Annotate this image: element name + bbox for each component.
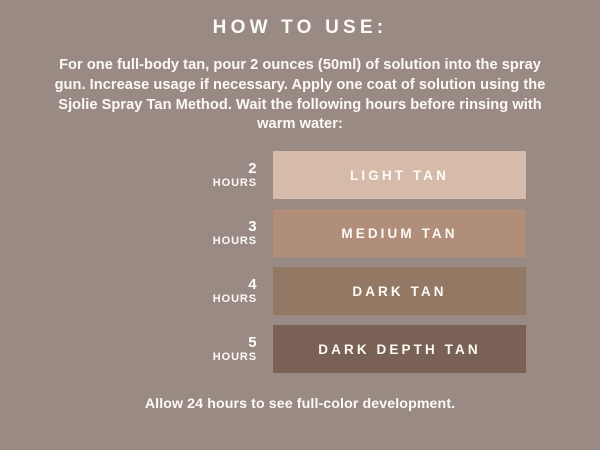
how-to-use-poster: HOW TO USE: For one full-body tan, pour … [0,0,600,450]
shade-row: 3 HOURS MEDIUM TAN [74,209,526,257]
shade-swatch: DARK TAN [273,267,526,315]
shade-duration-value: 5 [248,335,257,351]
shade-swatch: LIGHT TAN [273,151,526,199]
shade-label: MEDIUM TAN [341,226,457,241]
shade-row: 2 HOURS LIGHT TAN [74,151,526,199]
shade-duration-value: 2 [248,161,257,177]
shade-duration: 5 HOURS [74,325,273,373]
shade-duration-value: 3 [248,219,257,235]
shade-duration-unit: HOURS [213,177,257,189]
shade-label: DARK TAN [352,284,446,299]
shade-duration: 2 HOURS [74,151,273,199]
shade-label: LIGHT TAN [350,168,449,183]
shade-duration: 4 HOURS [74,267,273,315]
shade-duration-value: 4 [248,277,257,293]
shade-swatch: MEDIUM TAN [273,209,526,257]
shade-duration-unit: HOURS [213,235,257,247]
shade-label: DARK DEPTH TAN [318,342,480,357]
shade-row: 5 HOURS DARK DEPTH TAN [74,325,526,373]
shade-row: 4 HOURS DARK TAN [74,267,526,315]
shade-duration: 3 HOURS [74,209,273,257]
footer-note: Allow 24 hours to see full-color develop… [145,396,455,412]
shade-duration-unit: HOURS [213,351,257,363]
shade-swatch: DARK DEPTH TAN [273,325,526,373]
page-title: HOW TO USE: [213,18,388,39]
instructions-paragraph: For one full-body tan, pour 2 ounces (50… [42,56,558,135]
shade-duration-unit: HOURS [213,293,257,305]
shade-list: 2 HOURS LIGHT TAN 3 HOURS MEDIUM TAN 4 H… [0,151,600,383]
